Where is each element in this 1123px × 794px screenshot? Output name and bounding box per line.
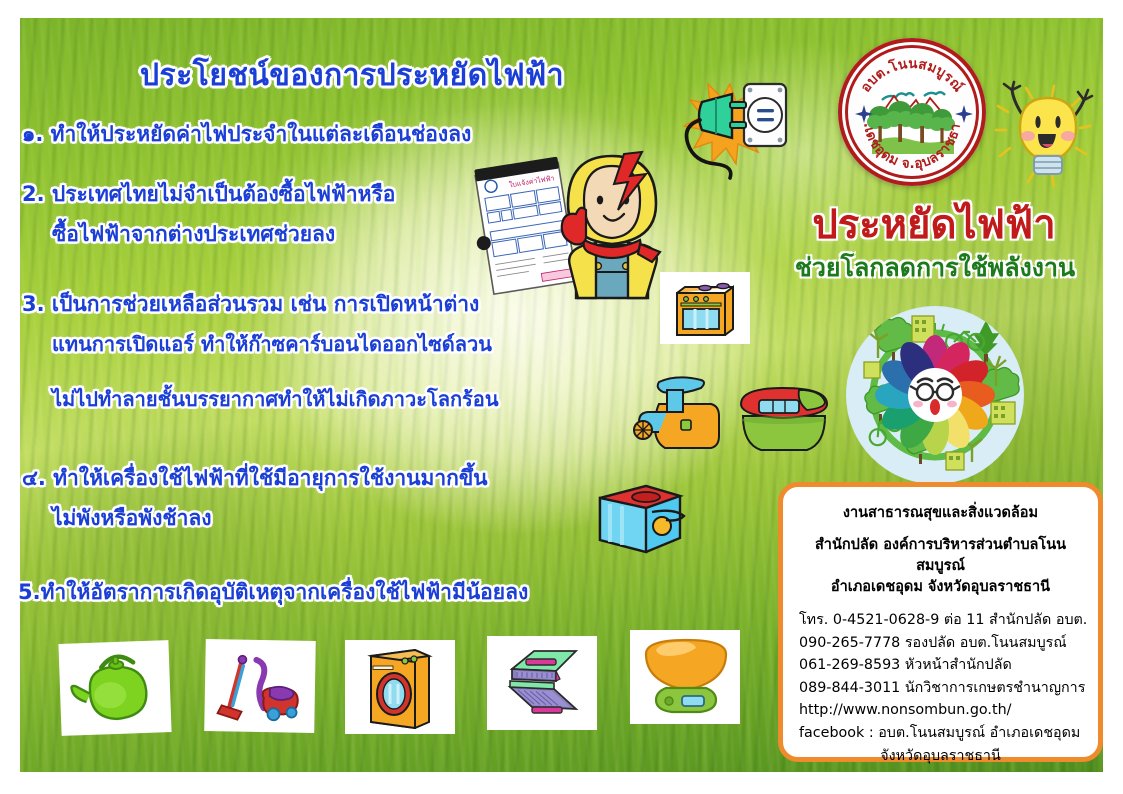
vacuum-cleaner-icon bbox=[211, 645, 308, 727]
plug-unplugging-icon bbox=[672, 76, 788, 180]
benefit-item-5: 5.ทำให้อัตราการเกิดอุบัติเหตุจากเครื่องใ… bbox=[18, 576, 528, 609]
benefit-item-4-line2: ไม่พังหรือพังช้าลง bbox=[52, 502, 212, 535]
blue-fryer-icon bbox=[588, 468, 688, 564]
benefit-item-2-line2: ซื้อไฟฟ้าจากต่างประเทศช่วยลง bbox=[52, 218, 335, 251]
benefit-item-4-line1: ๔. ทำให้เครื่องใช้ไฟฟ้าที่ใช้มีอายุการใช… bbox=[22, 462, 488, 495]
contact-info-card: งานสาธารณสุขและสิ่งแวดล้อม สำนักปลัด องค… bbox=[778, 482, 1103, 762]
benefit-item-3-line3: ไม่ไปทำลายชั้นบรรยากาศทำให้ไม่เกิดภาวะโล… bbox=[52, 383, 498, 415]
benefit-item-3-line2: แทนการเปิดแอร์ ทำให้ก๊าซคาร์บอนไดออกไซด์… bbox=[52, 328, 492, 360]
municipality-emblem: อบต.โนนสมบูรณ์ อ.เดชอุดม จ.อุบลราชธานี bbox=[838, 38, 986, 186]
kitchen-scale-icon bbox=[636, 634, 734, 720]
contact-org-line2: อำเภอเดชอุดม จังหวัดอุบลราชธานี bbox=[793, 577, 1088, 598]
benefit-item-1: ๑. ทำให้ประหยัดค่าไฟประจำในแต่ละเดือนช่อ… bbox=[22, 118, 471, 151]
appliance-tile-kettle bbox=[58, 640, 171, 736]
kettle-icon bbox=[67, 649, 164, 726]
contact-phone-main: โทร. 0-4521-0628-9 ต่อ 11 สำนักปลัด อบต. bbox=[793, 609, 1088, 632]
contact-org-line1: สำนักปลัด องค์การบริหารส่วนตำบลโนนสมบูรณ… bbox=[793, 535, 1088, 577]
rice-cooker-icon bbox=[737, 382, 831, 454]
meat-grinder-icon bbox=[625, 372, 721, 452]
contact-province: จังหวัดอุบลราชธานี bbox=[793, 745, 1088, 768]
appliance-tile-vacuum bbox=[204, 639, 316, 733]
page-title: ประโยชน์ของการประหยัดไฟฟ้า bbox=[140, 52, 564, 99]
electricity-mascot-icon bbox=[556, 148, 668, 298]
contact-phone-agri: 089-844-3011 นักวิชาการเกษตรชำนาญการ bbox=[793, 677, 1088, 700]
contact-facebook-link[interactable]: facebook : อบต.โนนสมบูรณ์ อำเภอเดชอุดม bbox=[793, 722, 1088, 745]
appliance-tile-washing-machine bbox=[345, 640, 455, 734]
appliance-tile-oven bbox=[660, 272, 750, 344]
benefit-item-2-line1: 2. ประเทศไทยไม่จำเป็นต้องซื้อไฟฟ้าหรือ bbox=[22, 178, 395, 211]
contact-phone-chief: 061-269-8593 หัวหน้าสำนักปลัด bbox=[793, 654, 1088, 677]
benefit-item-3-line1: 3. เป็นการช่วยเหลือส่วนรวม เช่น การเปิดห… bbox=[22, 288, 479, 321]
appliance-tile-kitchen-scale bbox=[630, 630, 740, 724]
slogan-subheadline: ช่วยโลกลดการใช้พลังงาน bbox=[760, 248, 1110, 288]
washing-machine-icon bbox=[361, 642, 439, 732]
appliance-tile-sandwich-press bbox=[487, 636, 597, 730]
contact-website-link[interactable]: http://www.nonsombun.go.th/ bbox=[793, 699, 1088, 722]
sandwich-press-icon bbox=[494, 641, 590, 725]
happy-lightbulb-icon bbox=[996, 84, 1100, 192]
poster-canvas: ประโยชน์ของการประหยัดไฟฟ้า ๑. ทำให้ประหย… bbox=[0, 0, 1123, 794]
eco-earth-flower-icon bbox=[846, 306, 1024, 484]
slogan-headline: ประหยัดไฟฟ้า bbox=[766, 192, 1102, 256]
contact-phone-deputy: 090-265-7778 รองปลัด อบต.โนนสมบูรณ์ bbox=[793, 632, 1088, 655]
contact-heading: งานสาธารณสุขและสิ่งแวดล้อม bbox=[793, 501, 1088, 524]
oven-icon bbox=[669, 277, 741, 339]
